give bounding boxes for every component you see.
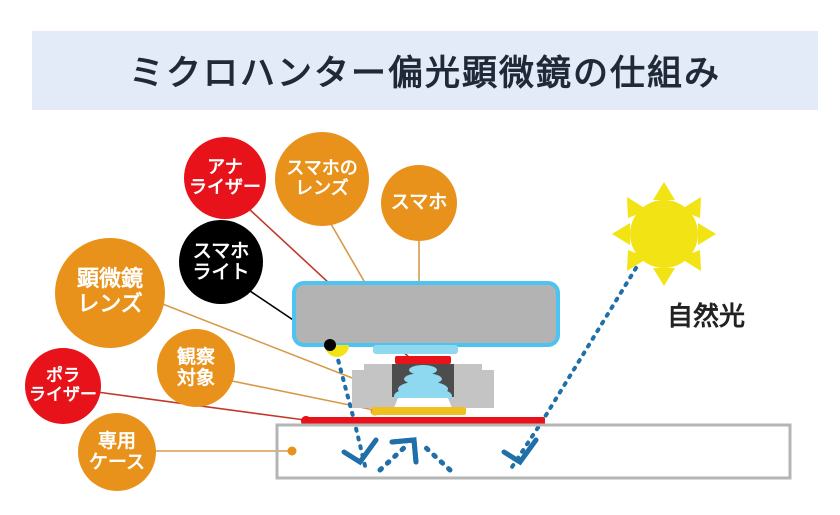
label-analyzer-line1: アナ <box>207 158 243 178</box>
label-microscope-lens-line1: 顕微鏡 <box>77 268 143 293</box>
label-phone-lens-line1: スマホの <box>286 159 357 179</box>
label-phone-light-line2: ライト <box>192 262 249 283</box>
label-phone-light-line1: スマホ <box>193 241 249 262</box>
phone-case-lip <box>373 345 458 354</box>
label-polarizer-line2: ライザー <box>29 386 97 405</box>
label-phone-line1: スマホ <box>391 192 447 213</box>
label-natural-light: 自然光 <box>667 296 745 333</box>
diagram-canvas: ミクロハンター偏光顕微鏡の仕組み <box>0 0 840 515</box>
label-phone-lens-line2: レンズ <box>295 179 349 199</box>
analyzer-bar <box>395 356 451 364</box>
label-polarizer-line1: ポラ <box>46 367 80 386</box>
light-path-arrows <box>344 440 536 470</box>
label-microscope-lens-line2: レンズ <box>77 293 143 318</box>
label-observe-object-line1: 観察 <box>177 347 215 368</box>
label-observe-object[interactable]: 観察 対象 <box>157 329 235 407</box>
label-analyzer-line2: ライザー <box>189 178 261 198</box>
observation-object-bar <box>372 407 466 415</box>
dedicated-case-box <box>277 425 790 478</box>
connector-dot-case <box>288 447 297 456</box>
label-phone-light[interactable]: スマホ ライト <box>179 220 263 304</box>
natural-light-ray-into-case <box>510 420 543 470</box>
label-dedicated-case-line2: ケース <box>89 452 145 473</box>
microscope-housing <box>352 364 494 408</box>
label-observe-object-line2: 対象 <box>177 368 215 389</box>
smartphone-body <box>294 283 558 345</box>
label-polarizer[interactable]: ポラ ライザー <box>25 348 101 424</box>
phone-light-ray <box>336 352 354 420</box>
label-analyzer[interactable]: アナ ライザー <box>184 137 266 219</box>
label-dedicated-case-line1: 専用 <box>98 431 136 452</box>
label-dedicated-case[interactable]: 専用 ケース <box>78 413 156 491</box>
label-phone-lens[interactable]: スマホの レンズ <box>275 132 369 226</box>
phone-light-emitter <box>324 339 336 351</box>
sun-icon <box>612 182 716 286</box>
label-phone[interactable]: スマホ <box>381 165 457 241</box>
label-microscope-lens[interactable]: 顕微鏡 レンズ <box>55 238 165 348</box>
